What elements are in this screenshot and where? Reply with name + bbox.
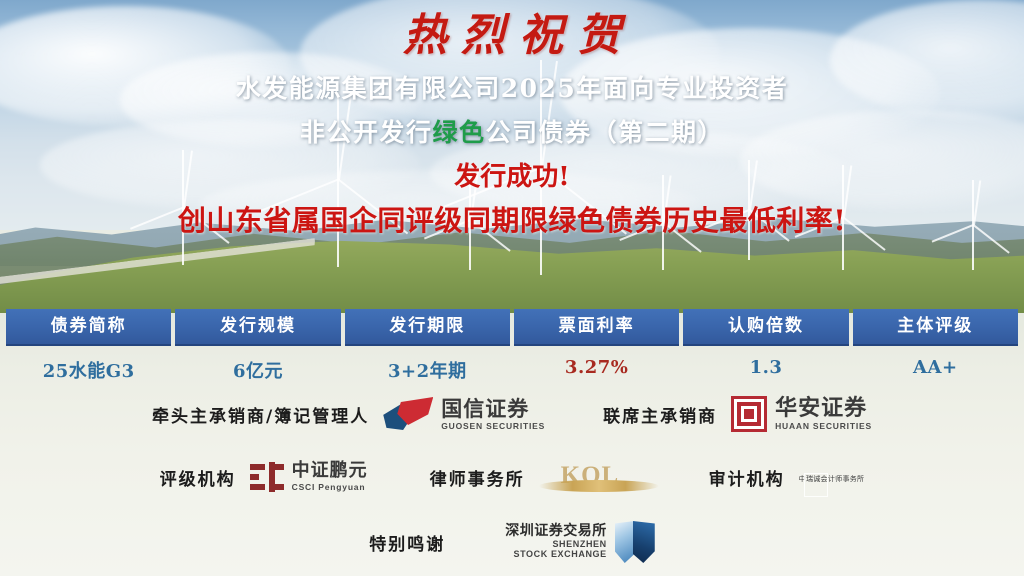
- table-header-cell: 票面利率: [514, 309, 679, 346]
- partner-label: 审计机构: [709, 465, 785, 490]
- highlight-line-2: 创山东省属国企同评级同期限绿色债券历史最低利率!: [0, 203, 1024, 239]
- partner-row-service-providers: 评级机构 中证鹏元 CSCI Pengyuan 律师事务所 KQL: [0, 449, 1024, 505]
- partner-label: 联席主承销商: [603, 402, 717, 427]
- partner-row-underwriters: 牵头主承销商/簿记管理人 国信证券 GUOSEN SECURITIES 联席主承…: [0, 385, 1024, 443]
- table-value-cell-coupon-rate: 3.27%: [514, 357, 679, 383]
- zhongruicheng-mark-icon: 中瑞诚会计师事务所: [799, 468, 865, 486]
- kql-mark-icon: KQL: [539, 460, 659, 494]
- subtitle-line-1: 水发能源集团有限公司2025年面向专业投资者: [0, 72, 1024, 105]
- partner-special-thanks: 特别鸣谢 深圳证券交易所 SHENZHEN STOCK EXCHANGE: [369, 521, 655, 563]
- partner-label: 特别鸣谢: [369, 530, 445, 555]
- subtitle-line-2: 非公开发行绿色公司债券（第二期）: [0, 116, 1024, 149]
- subtitle-line-2-part-b: 公司债券（第二期）: [486, 118, 725, 147]
- table-value-cell: 1.3: [683, 357, 848, 383]
- table-header-cell: 主体评级: [853, 309, 1018, 346]
- partner-row-special-thanks: 特别鸣谢 深圳证券交易所 SHENZHEN STOCK EXCHANGE: [0, 513, 1024, 571]
- partners-block: 牵头主承销商/簿记管理人 国信证券 GUOSEN SECURITIES 联席主承…: [0, 385, 1024, 571]
- partner-rating-agency: 评级机构 中证鹏元 CSCI Pengyuan: [160, 462, 368, 492]
- partner-law-firm: 律师事务所 KQL: [430, 460, 659, 494]
- shenzhen-stock-exchange-logo: 深圳证券交易所 SHENZHEN STOCK EXCHANGE: [505, 521, 655, 563]
- kql-law-firm-logo: KQL: [539, 460, 659, 494]
- table-value-cell: AA+: [853, 357, 1018, 383]
- table-value-cell: 25水能G3: [6, 357, 171, 383]
- page-title: 热烈祝贺: [0, 8, 1024, 63]
- partner-label: 评级机构: [160, 465, 236, 490]
- table-header-cell: 债券简称: [6, 309, 171, 346]
- partner-logo-en-line-2: STOCK EXCHANGE: [505, 550, 607, 560]
- partner-label: 牵头主承销商/簿记管理人: [152, 402, 369, 427]
- partner-logo-en: CSCI Pengyuan: [292, 483, 368, 492]
- csci-pengyuan-logo: 中证鹏元 CSCI Pengyuan: [250, 462, 368, 492]
- table-header-cell: 发行规模: [175, 309, 340, 346]
- table-value-cell: 6亿元: [175, 357, 340, 383]
- partner-audit-institution: 审计机构 中瑞诚会计师事务所: [709, 465, 865, 490]
- headline-block: 热烈祝贺 水发能源集团有限公司2025年面向专业投资者 非公开发行绿色公司债券（…: [0, 0, 1024, 239]
- guosen-securities-logo: 国信证券 GUOSEN SECURITIES: [383, 397, 545, 431]
- guosen-mark-icon: [383, 397, 433, 431]
- huaan-seal-icon: [731, 396, 767, 432]
- partner-lead-underwriter: 牵头主承销商/簿记管理人 国信证券 GUOSEN SECURITIES: [152, 397, 545, 431]
- huaan-securities-logo: 华安证券 HUAAN SECURITIES: [731, 396, 872, 432]
- table-header-cell: 认购倍数: [683, 309, 848, 346]
- partner-joint-underwriter: 联席主承销商 华安证券 HUAAN SECURITIES: [603, 396, 872, 432]
- partner-logo-cn: 华安证券: [775, 397, 872, 420]
- szse-shield-icon: [615, 521, 655, 563]
- table-value-row: 25水能G3 6亿元 3+2年期 3.27% 1.3 AA+: [6, 357, 1018, 383]
- partner-label: 律师事务所: [430, 465, 525, 490]
- subtitle-green-keyword: 绿色: [432, 118, 485, 147]
- partner-logo-en: HUAAN SECURITIES: [775, 422, 872, 431]
- subtitle-line-2-part-a: 非公开发行: [300, 118, 433, 147]
- zhongruicheng-audit-logo: 中瑞诚会计师事务所: [799, 468, 865, 486]
- table-header-cell: 发行期限: [345, 309, 510, 346]
- partner-logo-cn: 中证鹏元: [292, 462, 368, 481]
- highlight-line-1: 发行成功!: [0, 161, 1024, 195]
- bond-summary-table: 债券简称 发行规模 发行期限 票面利率 认购倍数 主体评级 25水能G3 6亿元…: [6, 309, 1018, 383]
- table-header-row: 债券简称 发行规模 发行期限 票面利率 认购倍数 主体评级: [6, 309, 1018, 346]
- partner-logo-cn: 国信证券: [441, 398, 545, 420]
- table-value-cell: 3+2年期: [345, 357, 510, 383]
- csci-pengyuan-mark-icon: [250, 462, 284, 492]
- partner-logo-cn: 深圳证券交易所: [505, 524, 607, 539]
- poster-canvas: 热烈祝贺 水发能源集团有限公司2025年面向专业投资者 非公开发行绿色公司债券（…: [0, 0, 1024, 576]
- partner-logo-en: GUOSEN SECURITIES: [441, 422, 545, 431]
